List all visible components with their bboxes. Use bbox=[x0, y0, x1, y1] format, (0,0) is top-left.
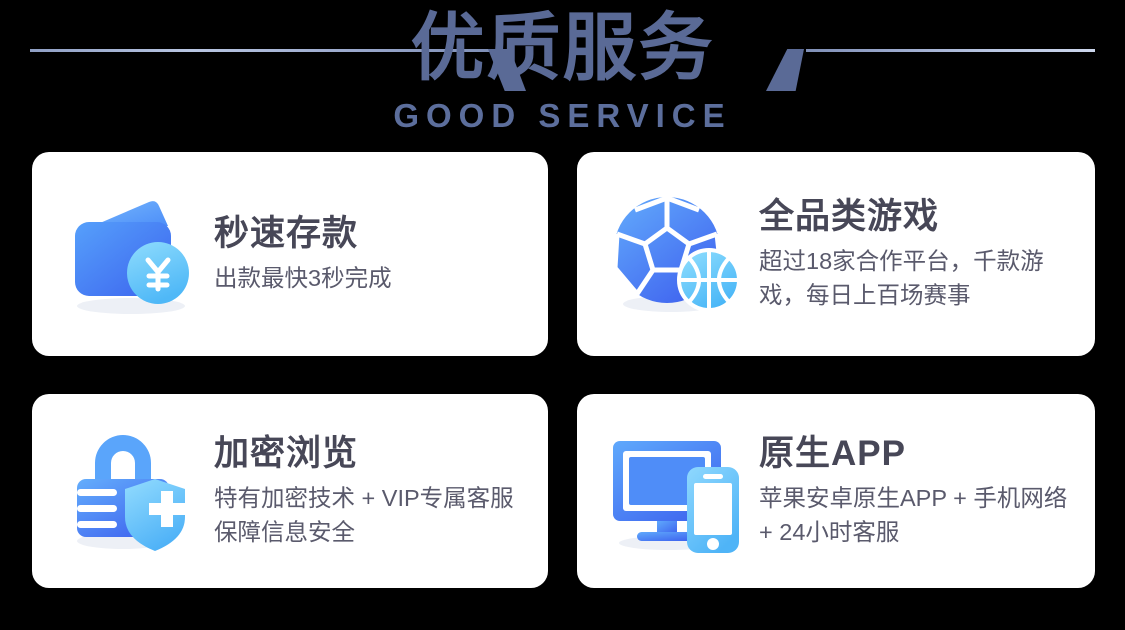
promo-banner: 优质服务 GOOD SERVICE bbox=[0, 0, 1125, 630]
card-title: 加密浏览 bbox=[214, 433, 534, 475]
card-title: 秒速存款 bbox=[214, 213, 534, 255]
feature-card-games[interactable]: 全品类游戏 超过18家合作平台，千款游戏，每日上百场赛事 bbox=[577, 152, 1095, 356]
wallet-yen-icon bbox=[56, 184, 206, 324]
header: 优质服务 GOOD SERVICE bbox=[0, 0, 1125, 146]
monitor-phone-icon bbox=[601, 421, 751, 561]
card-subtitle: 出款最快3秒完成 bbox=[214, 261, 534, 295]
card-subtitle: 苹果安卓原生APP + 手机网络 + 24小时客服 bbox=[759, 481, 1081, 549]
page-title: 优质服务 bbox=[0, 6, 1125, 90]
lock-shield-icon bbox=[56, 421, 206, 561]
card-subtitle: 超过18家合作平台，千款游戏，每日上百场赛事 bbox=[759, 244, 1081, 312]
soccer-basketball-icon bbox=[601, 184, 751, 324]
page-subtitle: GOOD SERVICE bbox=[0, 98, 1125, 134]
feature-card-encryption[interactable]: 加密浏览 特有加密技术 + VIP专属客服保障信息安全 bbox=[32, 394, 548, 588]
feature-card-native-app[interactable]: 原生APP 苹果安卓原生APP + 手机网络 + 24小时客服 bbox=[577, 394, 1095, 588]
card-text-block: 原生APP 苹果安卓原生APP + 手机网络 + 24小时客服 bbox=[751, 433, 1095, 549]
card-title: 原生APP bbox=[759, 433, 1081, 475]
card-text-block: 加密浏览 特有加密技术 + VIP专属客服保障信息安全 bbox=[206, 433, 548, 549]
card-subtitle: 特有加密技术 + VIP专属客服保障信息安全 bbox=[214, 481, 534, 549]
card-text-block: 全品类游戏 超过18家合作平台，千款游戏，每日上百场赛事 bbox=[751, 196, 1095, 312]
card-text-block: 秒速存款 出款最快3秒完成 bbox=[206, 213, 548, 295]
card-title: 全品类游戏 bbox=[759, 196, 1081, 238]
feature-card-deposit[interactable]: 秒速存款 出款最快3秒完成 bbox=[32, 152, 548, 356]
